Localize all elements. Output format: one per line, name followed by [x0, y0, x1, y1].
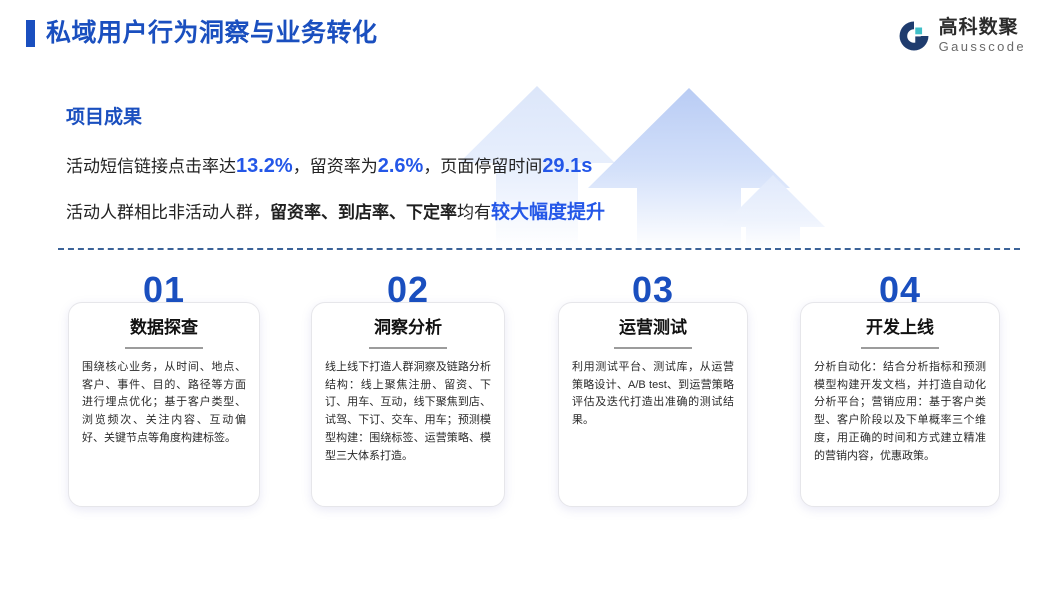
logo-text-block: 高科数聚 Gausscode	[939, 18, 1026, 53]
logo-name-cn: 高科数聚	[939, 18, 1026, 37]
step-description: 分析自动化：结合分析指标和预测模型构建开发文档，并打造自动化分析平台；营销应用：…	[814, 359, 986, 466]
results-line2-seg2: 均有	[457, 203, 491, 222]
page-header: 私域用户行为洞察与业务转化	[0, 0, 1048, 78]
results-line-1: 活动短信链接点击率达13.2%，留资率为2.6%，页面停留时间29.1s	[66, 153, 706, 180]
results-line-2: 活动人群相比非活动人群，留资率、到店率、下定率均有较大幅度提升	[66, 200, 706, 226]
step-number: 04	[800, 272, 1000, 308]
step-card-02[interactable]: 02 洞察分析 线上线下打造人群洞察及链路分析结构：线上聚焦注册、留资、下订、用…	[311, 272, 505, 512]
metric-lead-rate: 2.6%	[378, 155, 424, 177]
step-card-04[interactable]: 04 开发上线 分析自动化：结合分析指标和预测模型构建开发文档，并打造自动化分析…	[800, 272, 1000, 512]
step-number: 01	[68, 272, 260, 308]
step-title: 运营测试	[572, 319, 734, 338]
step-title-rule	[125, 347, 203, 349]
results-line1-seg2: ，留资率为	[293, 157, 378, 176]
results-line1-seg1: 活动短信链接点击率达	[66, 157, 236, 176]
title-accent-bar	[26, 20, 35, 47]
step-description: 利用测试平台、测试库，从运营策略设计、A/B test、到运营策略评估及迭代打造…	[572, 359, 734, 430]
results-line2-bold: 留资率、到店率、下定率	[270, 203, 457, 222]
step-title: 开发上线	[814, 319, 986, 338]
results-line2-highlight: 较大幅度提升	[491, 202, 605, 223]
step-title-rule	[369, 347, 447, 349]
slide-root: 私域用户行为洞察与业务转化 高科数聚 Gausscode 项目成果 活动短信链接…	[0, 0, 1048, 591]
step-description: 线上线下打造人群洞察及链路分析结构：线上聚焦注册、留资、下订、用车、互动，线下聚…	[325, 359, 491, 466]
results-line2-seg1: 活动人群相比非活动人群，	[66, 203, 270, 222]
decor-arrow-right	[721, 175, 825, 250]
step-description: 围绕核心业务，从时间、地点、客户、事件、目的、路径等方面进行埋点优化；基于客户类…	[82, 359, 246, 448]
metric-click-rate: 13.2%	[236, 155, 293, 177]
page-title: 私域用户行为洞察与业务转化	[46, 21, 378, 46]
results-heading: 项目成果	[66, 108, 706, 127]
step-title: 洞察分析	[325, 319, 491, 338]
step-card-body: 数据探查 围绕核心业务，从时间、地点、客户、事件、目的、路径等方面进行埋点优化；…	[68, 302, 260, 507]
step-title-rule	[614, 347, 692, 349]
step-title: 数据探查	[82, 319, 246, 338]
step-card-body: 洞察分析 线上线下打造人群洞察及链路分析结构：线上聚焦注册、留资、下订、用车、互…	[311, 302, 505, 507]
step-card-body: 运营测试 利用测试平台、测试库，从运营策略设计、A/B test、到运营策略评估…	[558, 302, 748, 507]
step-card-03[interactable]: 03 运营测试 利用测试平台、测试库，从运营策略设计、A/B test、到运营策…	[558, 272, 748, 512]
step-title-rule	[861, 347, 939, 349]
section-divider	[58, 248, 1020, 250]
results-line1-seg3: ，页面停留时间	[423, 157, 542, 176]
gausscode-logo-icon	[897, 19, 931, 53]
step-card-body: 开发上线 分析自动化：结合分析指标和预测模型构建开发文档，并打造自动化分析平台；…	[800, 302, 1000, 507]
step-number: 03	[558, 272, 748, 308]
brand-logo: 高科数聚 Gausscode	[897, 18, 1026, 53]
logo-name-en: Gausscode	[939, 40, 1026, 53]
project-results-block: 项目成果 活动短信链接点击率达13.2%，留资率为2.6%，页面停留时间29.1…	[66, 108, 706, 226]
step-card-01[interactable]: 01 数据探查 围绕核心业务，从时间、地点、客户、事件、目的、路径等方面进行埋点…	[68, 272, 260, 512]
title-wrap: 私域用户行为洞察与业务转化	[26, 20, 378, 47]
process-steps: 01 数据探查 围绕核心业务，从时间、地点、客户、事件、目的、路径等方面进行埋点…	[0, 272, 1048, 522]
metric-dwell-time: 29.1s	[542, 155, 592, 177]
step-number: 02	[311, 272, 505, 308]
